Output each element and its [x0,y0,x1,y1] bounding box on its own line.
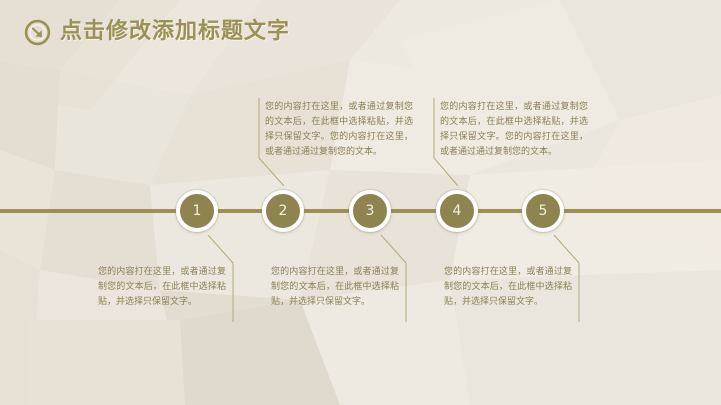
slide-header: 点击修改添加标题文字 [0,10,721,54]
callout-top-text-1[interactable]: 您的内容打在这里，或者通过复制您的文本后，在此框中选择粘贴，并选择只保留文字。您… [265,100,413,160]
timeline-node-label: 5 [539,203,548,219]
page-title: 点击修改添加标题文字 [60,21,290,43]
callout-bottom-text-2[interactable]: 您的内容打在这里，或者通过复制您的文本后，在此框中选择粘贴，并选择只保留文字。 [271,265,399,310]
timeline-node-5[interactable]: 5 [522,190,564,232]
timeline-node-1[interactable]: 1 [176,190,218,232]
callout-bottom-text-1[interactable]: 您的内容打在这里，或者通过复制您的文本后，在此框中选择粘贴，并选择只保留文字。 [98,265,226,310]
timeline-node-2[interactable]: 2 [262,190,304,232]
timeline-node-label: 3 [366,203,375,219]
timeline-node-label: 1 [193,203,202,219]
timeline-node-label: 2 [279,203,288,219]
timeline-node-4[interactable]: 4 [436,190,478,232]
callout-bottom-text-3[interactable]: 您的内容打在这里，或者通过复制您的文本后，在此框中选择粘贴，并选择只保留文字。 [444,265,572,310]
circle-arrow-down-right-icon [24,19,51,46]
callout-top-text-2[interactable]: 您的内容打在这里，或者通过复制您的文本后，在此框中选择粘贴，并选择只保留文字。您… [440,100,588,160]
timeline-node-label: 4 [453,203,462,219]
timeline-node-3[interactable]: 3 [349,190,391,232]
slide-canvas: 点击修改添加标题文字 1 2 3 4 5 您的内容打在这里，或者通过复制您的文本 [0,0,721,405]
